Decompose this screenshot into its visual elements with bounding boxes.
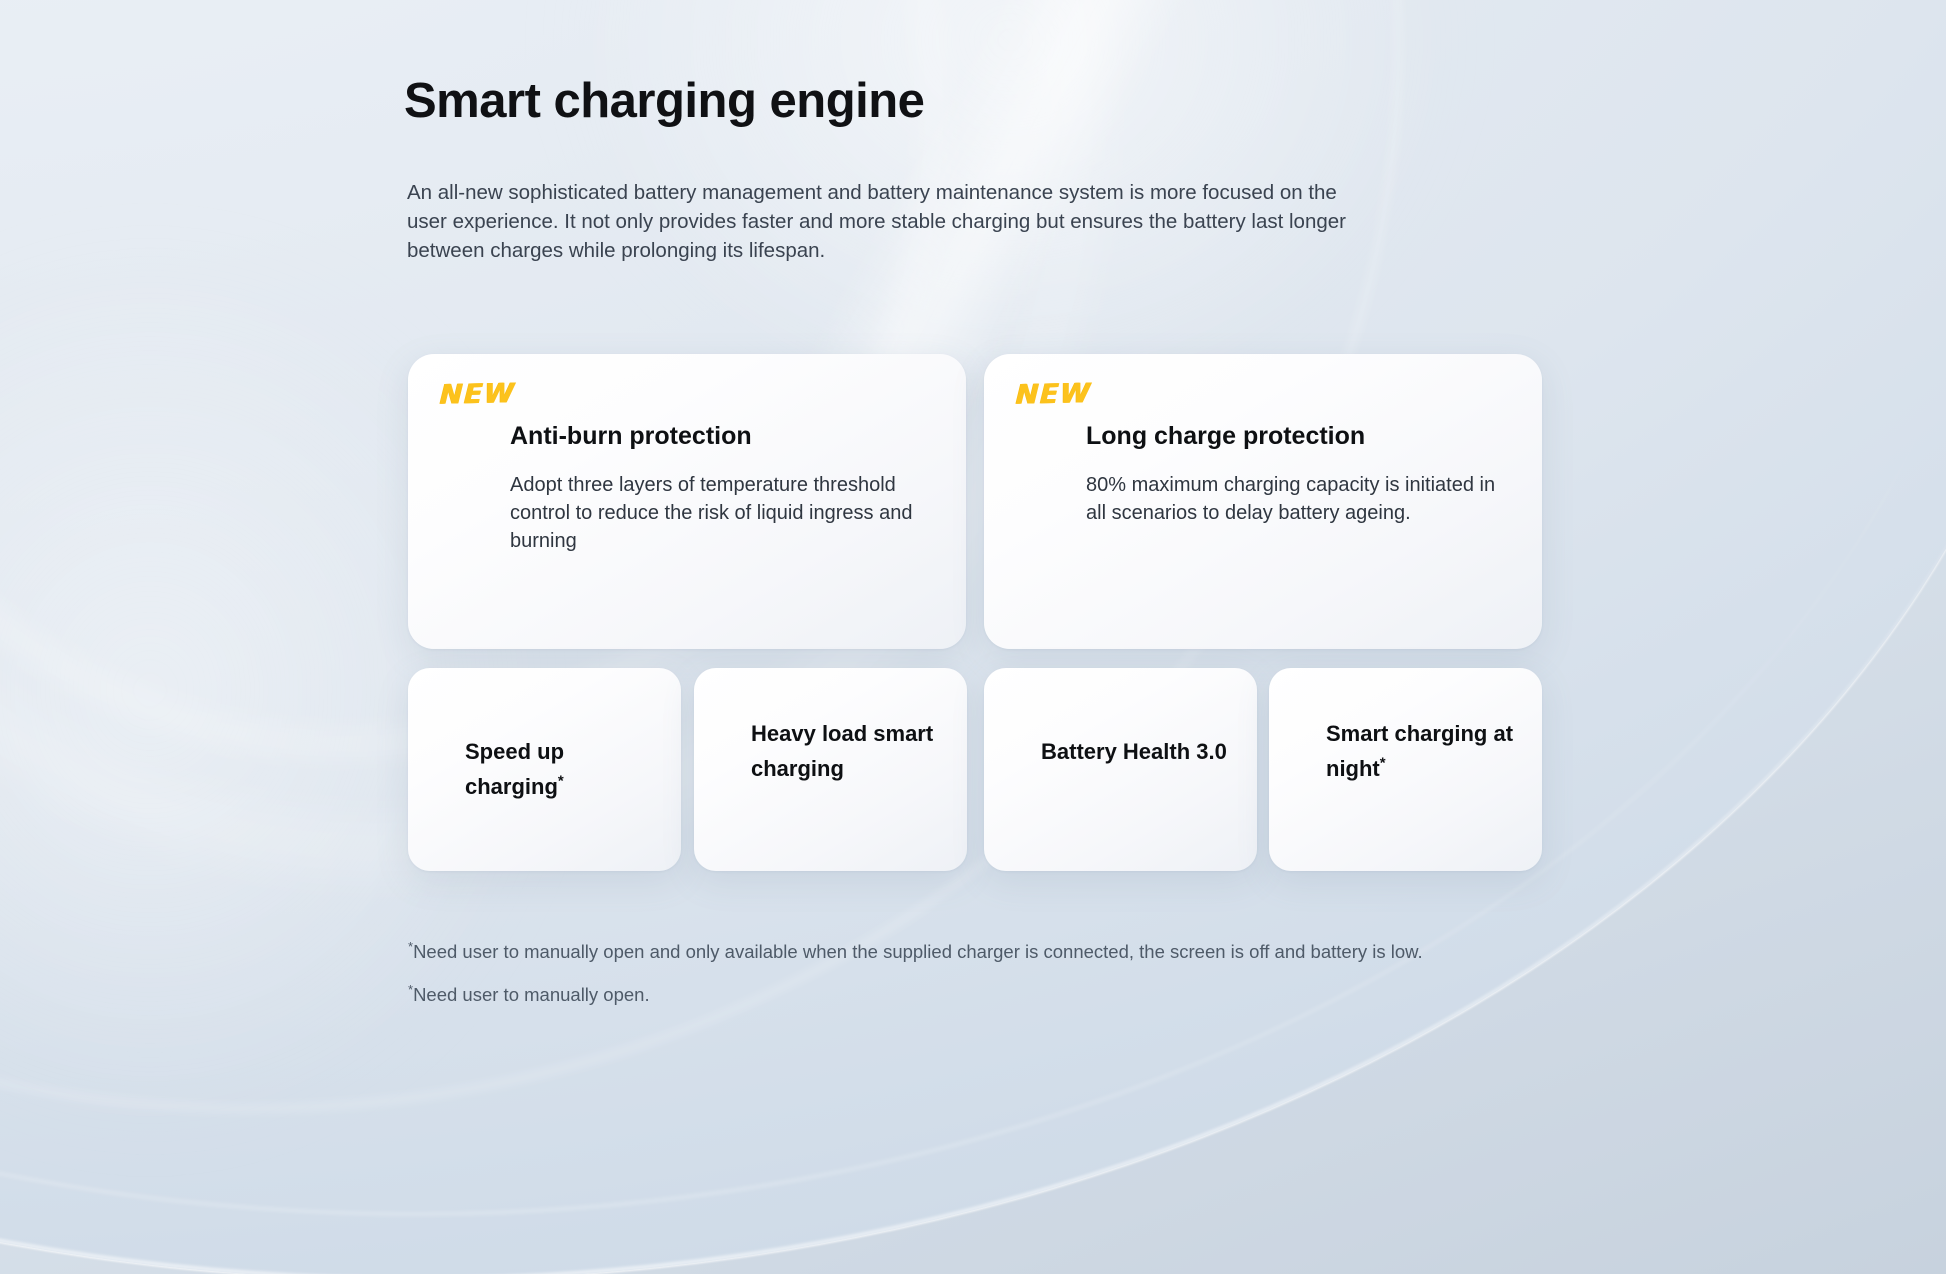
- footnote-item: *Need user to manually open and only ava…: [408, 938, 1538, 966]
- feature-card-anti-burn-protection[interactable]: NEW Anti-burn protection Adopt three lay…: [408, 354, 966, 649]
- footnote-marker: *: [558, 773, 564, 790]
- small-card-label-text: Speed up charging: [465, 739, 564, 799]
- small-card-label-text: Heavy load smart charging: [751, 721, 933, 781]
- content-layer: Smart charging engine An all-new sophist…: [0, 0, 1946, 1274]
- page-title: Smart charging engine: [404, 73, 924, 129]
- feature-card-long-charge-protection[interactable]: NEW Long charge protection 80% maximum c…: [984, 354, 1542, 649]
- page-root: Smart charging engine An all-new sophist…: [0, 0, 1946, 1274]
- small-card-battery-health[interactable]: Battery Health 3.0: [984, 668, 1257, 871]
- footnote-text: Need user to manually open.: [413, 984, 650, 1005]
- feature-card-body: Adopt three layers of temperature thresh…: [510, 471, 930, 555]
- feature-card-title: Long charge protection: [1086, 422, 1365, 451]
- small-card-label: Battery Health 3.0: [1041, 734, 1239, 769]
- feature-card-body: 80% maximum charging capacity is initiat…: [1086, 471, 1506, 527]
- footnote-marker: *: [1380, 755, 1386, 772]
- small-card-smart-charging-at-night[interactable]: Smart charging at night*: [1269, 668, 1542, 871]
- feature-card-title: Anti-burn protection: [510, 422, 752, 451]
- page-description: An all-new sophisticated battery managem…: [407, 178, 1367, 265]
- footnotes: *Need user to manually open and only ava…: [408, 938, 1538, 1009]
- new-badge: NEW: [439, 378, 516, 411]
- footnote-text: Need user to manually open and only avai…: [413, 941, 1423, 962]
- small-card-speed-up-charging[interactable]: Speed up charging*: [408, 668, 681, 871]
- new-badge: NEW: [1015, 378, 1092, 411]
- small-card-heavy-load-smart-charging[interactable]: Heavy load smart charging: [694, 668, 967, 871]
- small-card-label-text: Smart charging at night: [1326, 721, 1513, 781]
- footnote-item: *Need user to manually open.: [408, 981, 1538, 1009]
- small-card-label: Speed up charging*: [465, 734, 663, 804]
- small-card-label: Heavy load smart charging: [751, 716, 949, 786]
- small-card-label-text: Battery Health 3.0: [1041, 739, 1227, 764]
- small-card-label: Smart charging at night*: [1326, 716, 1524, 786]
